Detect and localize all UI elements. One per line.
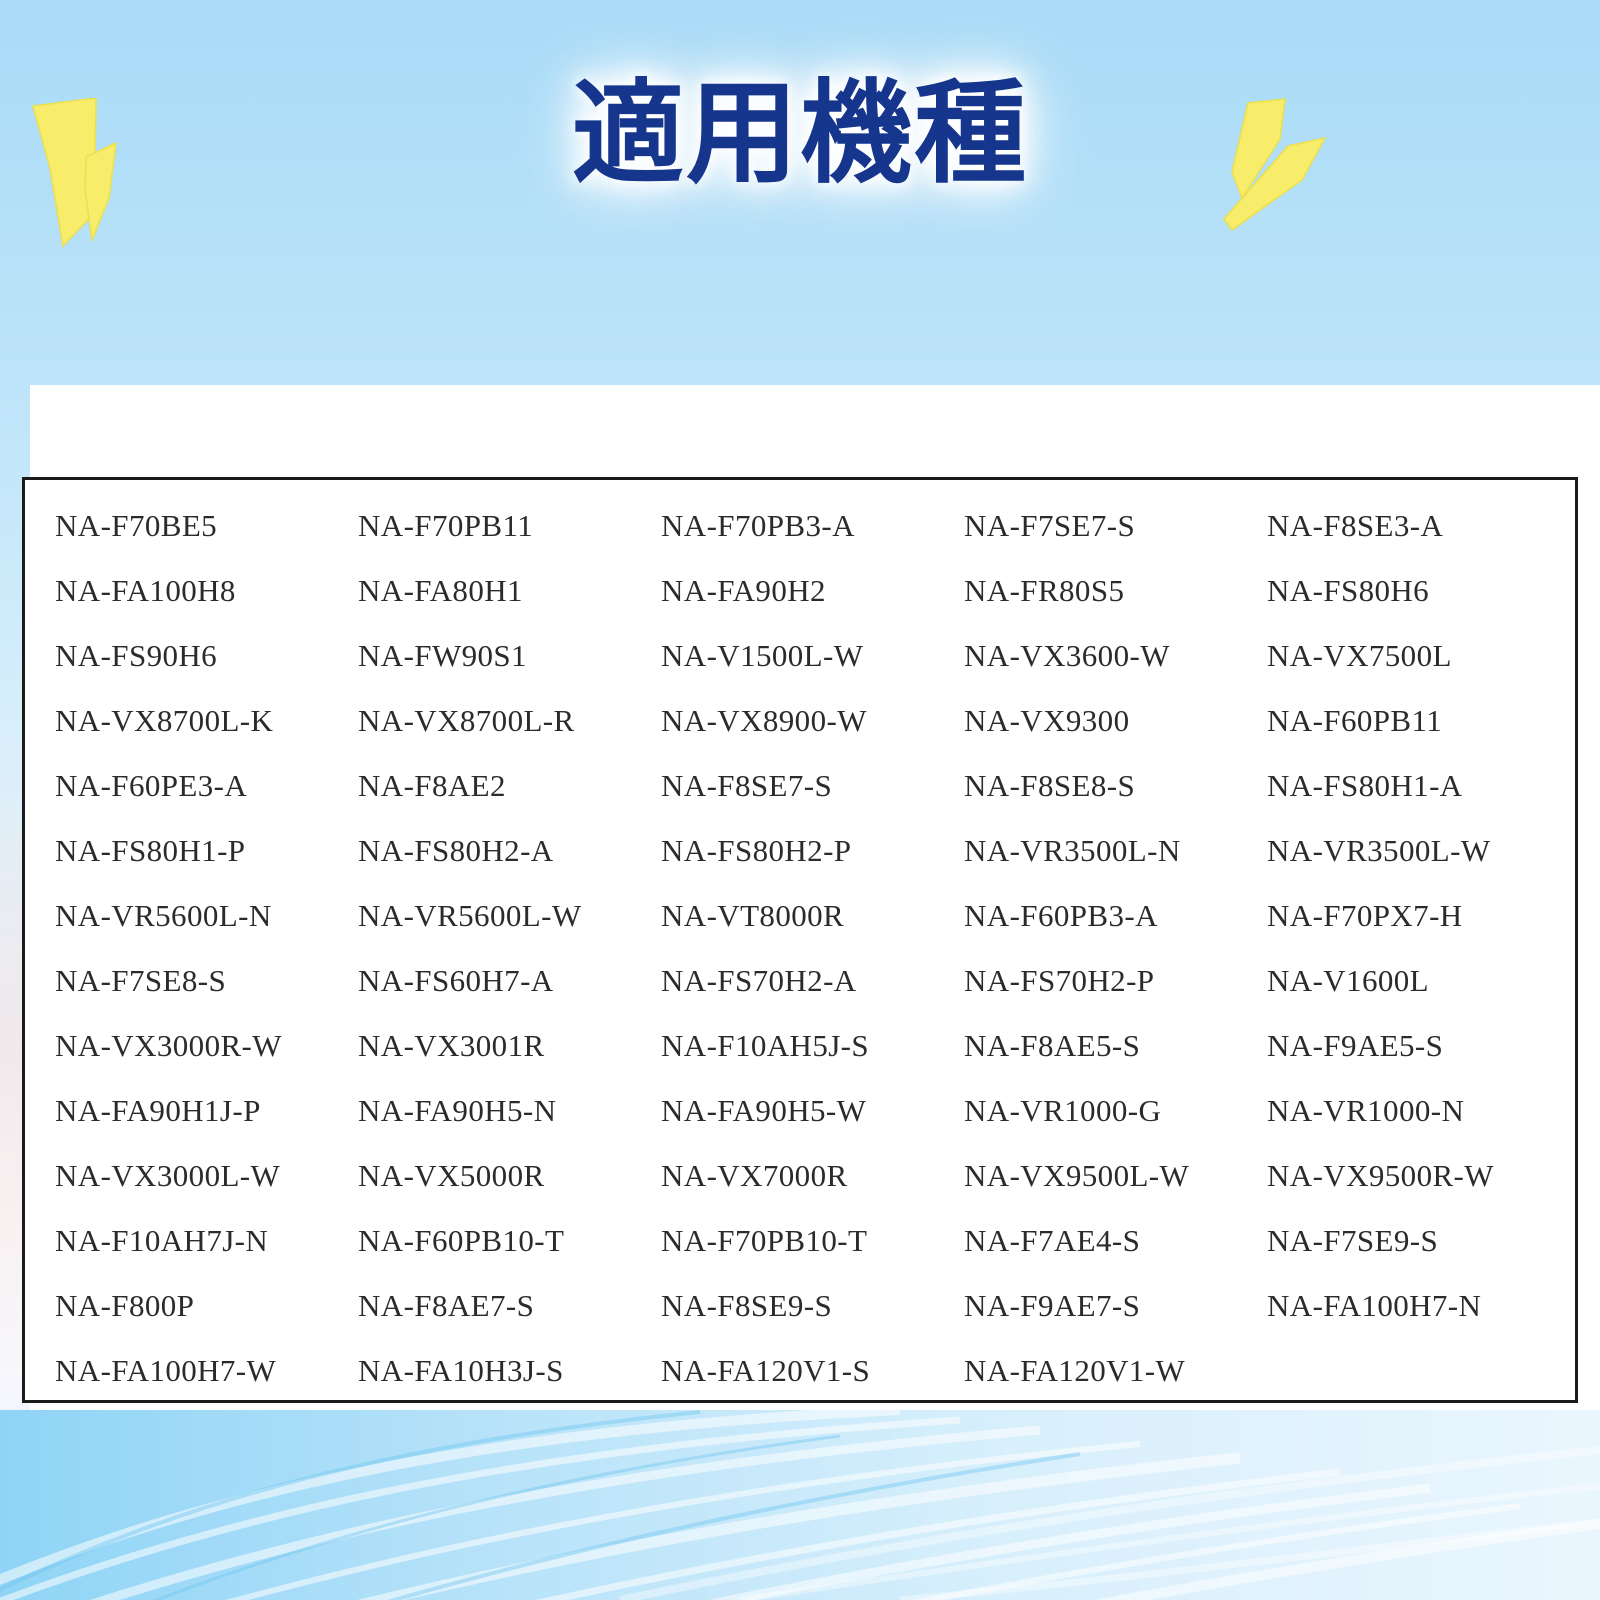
table-body: NA-F70BE5NA-F70PB11NA-F70PB3-ANA-F7SE7-S…	[25, 480, 1575, 1420]
wave-pattern-icon	[0, 1410, 1600, 1600]
model-cell: NA-F60PB10-T	[358, 1225, 661, 1256]
model-cell: NA-FA90H5-N	[358, 1095, 661, 1126]
model-cell: NA-VR5600L-W	[358, 900, 661, 931]
model-cell: NA-VT8000R	[661, 900, 964, 931]
model-cell: NA-F70BE5	[55, 510, 358, 541]
table-row: NA-VX8700L-KNA-VX8700L-RNA-VX8900-WNA-VX…	[55, 705, 1575, 770]
model-cell: NA-VX5000R	[358, 1160, 661, 1191]
model-cell: NA-FS80H2-A	[358, 835, 661, 866]
model-cell: NA-VR1000-N	[1267, 1095, 1570, 1126]
model-cell: NA-FS90H6	[55, 640, 358, 671]
table-row: NA-F800PNA-F8AE7-SNA-F8SE9-SNA-F9AE7-SNA…	[55, 1290, 1575, 1355]
model-cell: NA-FS70H2-P	[964, 965, 1267, 996]
model-cell: NA-F60PB11	[1267, 705, 1570, 736]
model-cell: NA-FS70H2-A	[661, 965, 964, 996]
model-cell: NA-VX9500L-W	[964, 1160, 1267, 1191]
model-cell: NA-F60PE3-A	[55, 770, 358, 801]
table-row: NA-FS80H1-PNA-FS80H2-ANA-FS80H2-PNA-VR35…	[55, 835, 1575, 900]
model-cell: NA-F70PB10-T	[661, 1225, 964, 1256]
model-cell: NA-FS80H1-A	[1267, 770, 1570, 801]
model-cell: NA-F60PB3-A	[964, 900, 1267, 931]
model-cell: NA-VX9500R-W	[1267, 1160, 1570, 1191]
model-cell: NA-F9AE7-S	[964, 1290, 1267, 1321]
model-cell: NA-F8SE3-A	[1267, 510, 1570, 541]
product-compatibility-page: 適用機種 NA-F70BE5NA-F70PB11NA-F70PB3-ANA-F7…	[0, 0, 1600, 1600]
model-cell: NA-F10AH5J-S	[661, 1030, 964, 1061]
model-cell: NA-FA100H8	[55, 575, 358, 606]
model-cell: NA-F7SE8-S	[55, 965, 358, 996]
model-cell: NA-F8SE9-S	[661, 1290, 964, 1321]
table-row: NA-VX3000R-WNA-VX3001RNA-F10AH5J-SNA-F8A…	[55, 1030, 1575, 1095]
model-cell: NA-VX8700L-R	[358, 705, 661, 736]
model-cell: NA-F8SE7-S	[661, 770, 964, 801]
model-cell: NA-FA90H1J-P	[55, 1095, 358, 1126]
model-cell: NA-VX7000R	[661, 1160, 964, 1191]
table-row: NA-F10AH7J-NNA-F60PB10-TNA-F70PB10-TNA-F…	[55, 1225, 1575, 1290]
model-cell: NA-VX8700L-K	[55, 705, 358, 736]
compatible-models-table: NA-F70BE5NA-F70PB11NA-F70PB3-ANA-F7SE7-S…	[22, 477, 1578, 1403]
table-row: NA-FA100H8NA-FA80H1NA-FA90H2NA-FR80S5NA-…	[55, 575, 1575, 640]
table-row: NA-FA90H1J-PNA-FA90H5-NNA-FA90H5-WNA-VR1…	[55, 1095, 1575, 1160]
model-cell: NA-F8SE8-S	[964, 770, 1267, 801]
model-cell: NA-VR3500L-W	[1267, 835, 1570, 866]
model-cell: NA-FA100H7-N	[1267, 1290, 1570, 1321]
model-cell: NA-FA10H3J-S	[358, 1355, 661, 1386]
model-cell: NA-FS60H7-A	[358, 965, 661, 996]
model-cell: NA-VX3000R-W	[55, 1030, 358, 1061]
model-cell: NA-VX8900-W	[661, 705, 964, 736]
table-row: NA-FS90H6NA-FW90S1NA-V1500L-WNA-VX3600-W…	[55, 640, 1575, 705]
model-cell: NA-VX7500L	[1267, 640, 1570, 671]
table-row: NA-VR5600L-NNA-VR5600L-WNA-VT8000RNA-F60…	[55, 900, 1575, 965]
table-row: NA-F70BE5NA-F70PB11NA-F70PB3-ANA-F7SE7-S…	[55, 510, 1575, 575]
model-cell: NA-FS80H6	[1267, 575, 1570, 606]
table-row: NA-F60PE3-ANA-F8AE2NA-F8SE7-SNA-F8SE8-SN…	[55, 770, 1575, 835]
model-cell: NA-VR5600L-N	[55, 900, 358, 931]
page-title: 適用機種	[0, 78, 1600, 190]
model-cell: NA-F7AE4-S	[964, 1225, 1267, 1256]
model-cell: NA-FA90H5-W	[661, 1095, 964, 1126]
model-cell: NA-VX3600-W	[964, 640, 1267, 671]
model-cell: NA-V1500L-W	[661, 640, 964, 671]
model-cell: NA-F8AE7-S	[358, 1290, 661, 1321]
model-cell: NA-F800P	[55, 1290, 358, 1321]
model-cell: NA-F7SE9-S	[1267, 1225, 1570, 1256]
table-row: NA-F7SE8-SNA-FS60H7-ANA-FS70H2-ANA-FS70H…	[55, 965, 1575, 1030]
model-cell: NA-V1600L	[1267, 965, 1570, 996]
model-cell: NA-FS80H1-P	[55, 835, 358, 866]
model-cell: NA-F70PX7-H	[1267, 900, 1570, 931]
model-cell: NA-FA100H7-W	[55, 1355, 358, 1386]
model-cell: NA-F9AE5-S	[1267, 1030, 1570, 1061]
model-cell: NA-FA80H1	[358, 575, 661, 606]
model-cell: NA-VX3001R	[358, 1030, 661, 1061]
model-cell: NA-F10AH7J-N	[55, 1225, 358, 1256]
model-cell: NA-F8AE2	[358, 770, 661, 801]
model-cell: NA-F8AE5-S	[964, 1030, 1267, 1061]
model-cell: NA-F7SE7-S	[964, 510, 1267, 541]
table-row: NA-VX3000L-WNA-VX5000RNA-VX7000RNA-VX950…	[55, 1160, 1575, 1225]
model-cell: NA-VX9300	[964, 705, 1267, 736]
model-cell: NA-FA120V1-S	[661, 1355, 964, 1386]
model-cell: NA-FA120V1-W	[964, 1355, 1267, 1386]
model-cell: NA-FW90S1	[358, 640, 661, 671]
model-cell: NA-VR1000-G	[964, 1095, 1267, 1126]
model-cell: NA-FR80S5	[964, 575, 1267, 606]
model-cell: NA-FS80H2-P	[661, 835, 964, 866]
model-cell: NA-F70PB11	[358, 510, 661, 541]
model-cell: NA-VX3000L-W	[55, 1160, 358, 1191]
model-cell: NA-FA90H2	[661, 575, 964, 606]
model-cell: NA-VR3500L-N	[964, 835, 1267, 866]
model-cell: NA-F70PB3-A	[661, 510, 964, 541]
